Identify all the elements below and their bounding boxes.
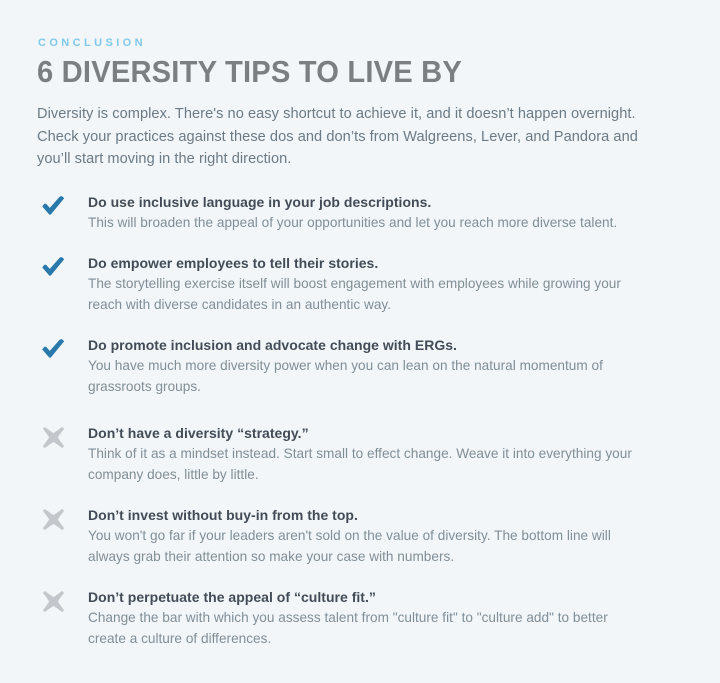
page-title: 6 DIVERSITY TIPS TO LIVE BY [37, 55, 641, 89]
list-item: Do promote inclusion and advocate change… [37, 336, 680, 397]
list-item-body: You won't go far if your leaders aren't … [88, 526, 636, 567]
list-item-heading: Do promote inclusion and advocate change… [88, 336, 680, 355]
check-icon [37, 253, 69, 281]
list-item-body: Change the bar with which you assess tal… [88, 608, 636, 649]
list-item-heading: Don’t have a diversity “strategy.” [88, 424, 680, 443]
list-item-body: The storytelling exercise itself will bo… [88, 274, 636, 315]
cross-icon [37, 423, 69, 451]
list-item: Don’t invest without buy-in from the top… [37, 506, 680, 567]
list-item: Don’t perpetuate the appeal of “culture … [37, 588, 680, 649]
cross-icon [37, 505, 69, 533]
check-icon [37, 192, 69, 220]
tips-list: Do use inclusive language in your job de… [37, 193, 680, 650]
list-item-heading: Don’t perpetuate the appeal of “culture … [88, 588, 680, 607]
list-item-body: This will broaden the appeal of your opp… [88, 213, 636, 234]
list-item: Do empower employees to tell their stori… [37, 254, 680, 315]
cross-icon [37, 587, 69, 615]
list-item-heading: Do empower employees to tell their stori… [88, 254, 680, 273]
list-item: Do use inclusive language in your job de… [37, 193, 680, 234]
list-item: Don’t have a diversity “strategy.” Think… [37, 424, 680, 485]
list-item-heading: Don’t invest without buy-in from the top… [88, 506, 680, 525]
list-item-heading: Do use inclusive language in your job de… [88, 193, 680, 212]
section-eyebrow-label: CONCLUSION [38, 36, 680, 50]
intro-paragraph: Diversity is complex. There's no easy sh… [37, 103, 657, 171]
list-item-body: Think of it as a mindset instead. Start … [88, 444, 636, 485]
list-item-body: You have much more diversity power when … [88, 356, 636, 397]
conclusion-page: CONCLUSION 6 DIVERSITY TIPS TO LIVE BY D… [0, 0, 720, 683]
check-icon [37, 335, 69, 363]
